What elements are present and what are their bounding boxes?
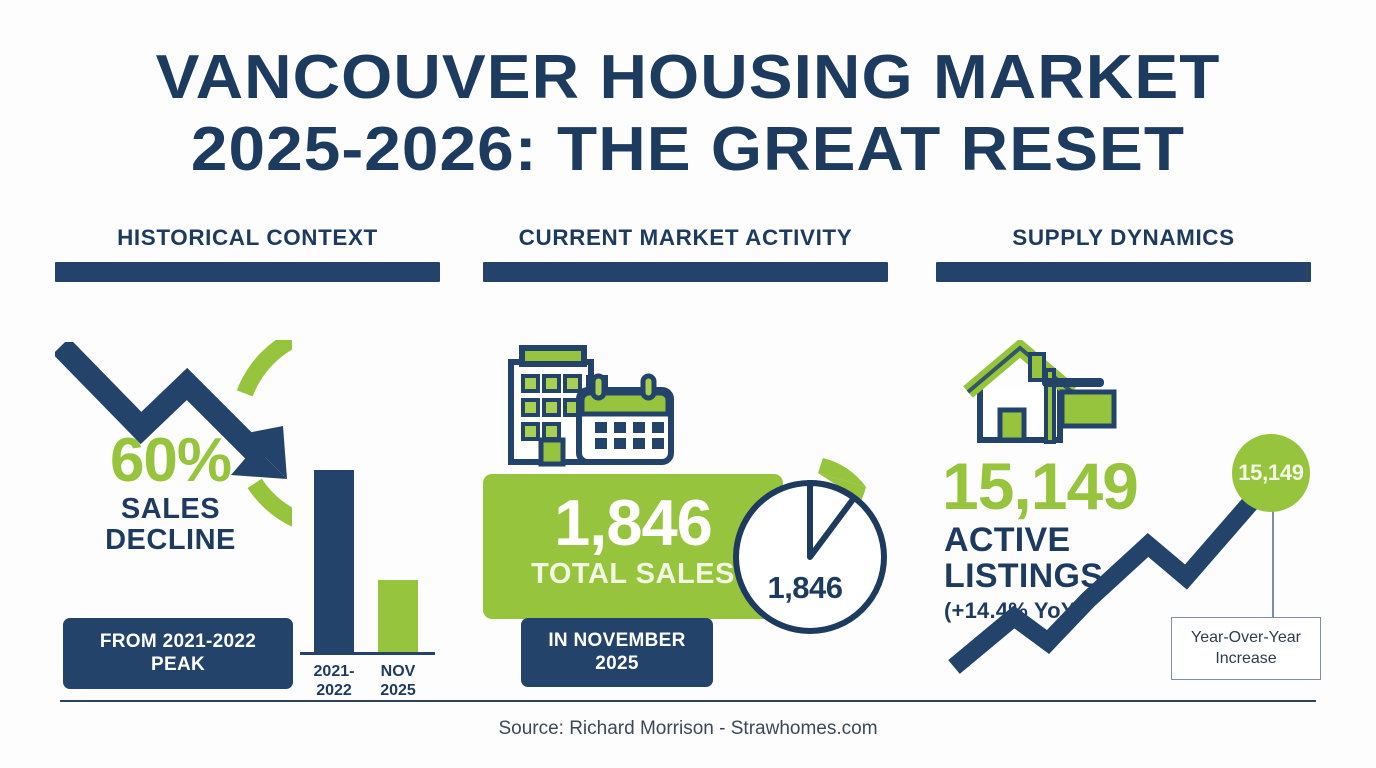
page-title: VANCOUVER HOUSING MARKET 2025-2026: THE …	[0, 42, 1376, 186]
listings-endpoint-bubble: 15,149	[1232, 434, 1310, 512]
bar-chart-plot-area	[300, 467, 435, 655]
ring-text-group: 60% SALES DECLINE	[63, 432, 278, 556]
current-body: 1,846 TOTAL SALES IN NOVEMBER 2025 1,846	[483, 282, 888, 702]
bar-chart-axis-labels: 2021- 2022 NOV 2025	[300, 662, 435, 712]
section-heading-historical: HISTORICAL CONTEXT	[51, 225, 444, 251]
sales-pie-chart	[730, 457, 890, 642]
ring-label: SALES DECLINE	[63, 494, 278, 556]
section-heading-supply: SUPPLY DYNAMICS	[932, 225, 1315, 251]
building-calendar-icon	[503, 338, 683, 468]
peak-reference-box: FROM 2021-2022 PEAK	[63, 618, 293, 689]
section-divider-bar	[483, 262, 888, 282]
bar-label-nov-2025: NOV 2025	[364, 662, 432, 700]
section-current-market-activity: CURRENT MARKET ACTIVITY	[483, 225, 888, 702]
infographic-canvas: VANCOUVER HOUSING MARKET 2025-2026: THE …	[0, 0, 1376, 768]
sales-period-box: IN NOVEMBER 2025	[521, 618, 713, 687]
bar-2021-2022	[314, 470, 354, 652]
bar-label-2021-2022: 2021- 2022	[300, 662, 368, 700]
bar-label-b-line1: NOV	[364, 662, 432, 681]
supply-body: 15,149 ACTIVE LISTINGS (+14.4% YoY) 15,1…	[936, 282, 1311, 702]
pie-center-value: 1,846	[745, 570, 865, 606]
yoy-callout-line-2: Increase	[1178, 648, 1314, 669]
bar-nov-2025	[378, 580, 418, 652]
yoy-callout-line-1: Year-Over-Year	[1178, 627, 1314, 648]
bar-label-b-line2: 2025	[364, 681, 432, 700]
title-line-2: 2025-2026: THE GREAT RESET	[0, 114, 1376, 186]
historical-body: 60% SALES DECLINE FROM 2021-2022 PEAK	[55, 282, 440, 702]
yoy-callout-box: Year-Over-Year Increase	[1171, 617, 1321, 680]
sales-period-line-2: 2025	[527, 652, 707, 675]
sales-period-line-1: IN NOVEMBER	[527, 629, 707, 652]
ring-label-line-1: SALES	[63, 494, 278, 525]
section-supply-dynamics: SUPPLY DYNAMICS 15,149 ACTIV	[936, 225, 1311, 702]
section-divider-bar	[936, 262, 1311, 282]
footer-divider	[60, 700, 1316, 702]
peak-box-line-1: FROM 2021-2022	[69, 630, 287, 653]
ring-label-line-2: DECLINE	[63, 525, 278, 556]
section-heading-current: CURRENT MARKET ACTIVITY	[479, 225, 892, 251]
peak-box-line-2: PEAK	[69, 653, 287, 676]
section-divider-bar	[55, 262, 440, 282]
section-historical-context: HISTORICAL CONTEXT 60% SALES DECLINE	[55, 225, 440, 702]
title-line-1: VANCOUVER HOUSING MARKET	[0, 42, 1376, 114]
bar-label-a-line2: 2022	[300, 681, 368, 700]
sales-bar-chart: 2021- 2022 NOV 2025	[300, 467, 435, 712]
bar-label-a-line1: 2021-	[300, 662, 368, 681]
source-attribution: Source: Richard Morrison - Strawhomes.co…	[0, 718, 1376, 740]
sales-decline-percent: 60%	[63, 432, 278, 490]
house-for-sale-icon	[962, 340, 1137, 450]
